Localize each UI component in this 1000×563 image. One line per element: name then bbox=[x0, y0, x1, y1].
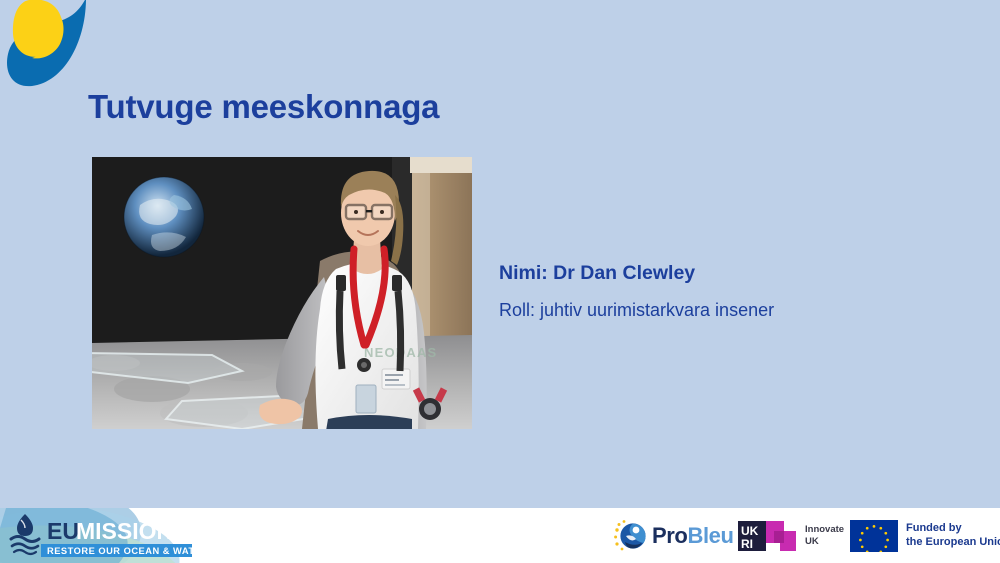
pro-bleu-text-secondary: Bleu bbox=[687, 523, 733, 548]
swoosh-teardrop-icon bbox=[2, 0, 106, 98]
brand-mark-logo bbox=[2, 0, 106, 98]
team-member-photo: NEODAAS bbox=[92, 157, 472, 429]
eu-funded-logo: Funded by the European Union bbox=[850, 508, 1000, 563]
pro-bleu-logo: ProBleu bbox=[613, 508, 734, 563]
eu-flag-icon bbox=[850, 520, 898, 552]
eu-funded-line2: the European Union bbox=[906, 536, 1000, 550]
innovate-uk-line1: Innovate bbox=[805, 524, 844, 536]
innovate-uk-line2: UK bbox=[805, 536, 844, 548]
svg-text:UK: UK bbox=[741, 524, 759, 538]
eu-missions-logo: EU MISSIONS RESTORE OUR OCEAN & WATERS bbox=[7, 510, 192, 560]
photo-illustration: NEODAAS bbox=[92, 157, 472, 429]
slide-canvas: Tutvuge meeskonnaga bbox=[0, 0, 1000, 563]
page-title: Tutvuge meeskonnaga bbox=[88, 88, 439, 126]
eu-missions-word-primary: EU bbox=[47, 518, 79, 544]
water-droplet-waves-icon bbox=[11, 514, 39, 554]
globe-stars-icon bbox=[613, 519, 647, 553]
eu-missions-word-secondary: MISSIONS bbox=[76, 518, 188, 544]
eu-missions-tagline: RESTORE OUR OCEAN & WATERS bbox=[47, 546, 192, 556]
pro-bleu-text-primary: Pro bbox=[652, 523, 687, 548]
svg-text:RI: RI bbox=[741, 537, 753, 551]
ukri-innovate-uk-logo: UK RI Innovate UK bbox=[736, 508, 844, 563]
eu-funded-line1: Funded by bbox=[906, 522, 1000, 536]
footer-bar: EU MISSIONS RESTORE OUR OCEAN & WATERS bbox=[0, 508, 1000, 563]
person-name-line: Nimi: Dr Dan Clewley bbox=[499, 262, 695, 285]
ukri-mark-icon: UK RI bbox=[736, 519, 798, 553]
person-role-line: Roll: juhtiv uurimistarkvara insener bbox=[499, 300, 774, 321]
